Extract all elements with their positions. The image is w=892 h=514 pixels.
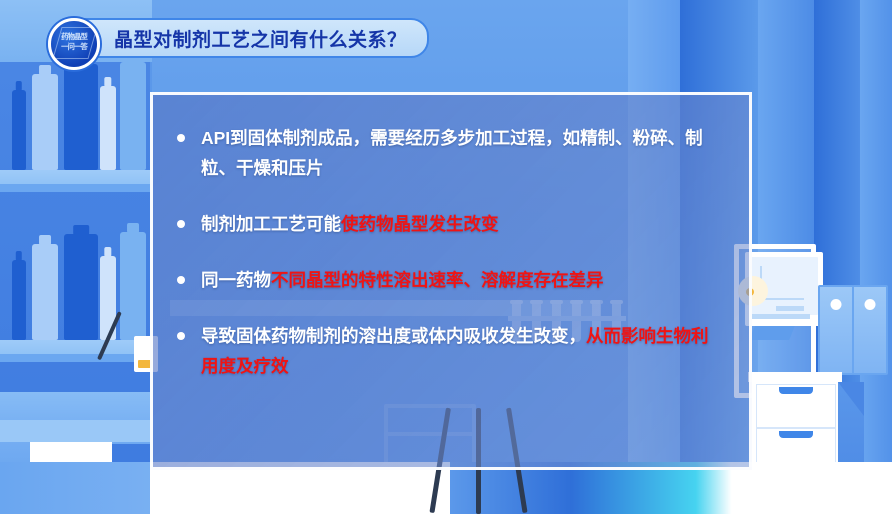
bullet-dot-icon [177,220,185,228]
left-bench-edge [0,420,150,442]
title-bar: 药物晶型 一问一答 晶型对制剂工艺之间有什么关系？ [48,18,429,58]
list-item: 同一药物不同晶型的特性溶出速率、溶解度存在差异 [175,265,719,295]
drawer [756,384,836,428]
badge-line-1: 药物晶型 [53,32,95,40]
wall-stripe [860,0,892,514]
bullet-list: API到固体制剂成品，需要经历多步加工过程，如精制、粉碎、制粒、干燥和压片制剂加… [175,123,719,381]
list-item: 导致固体药物制剂的溶出度或体内吸收发生改变，从而影响生物利用度及疗效 [175,321,719,381]
bullet-dot-icon [177,276,185,284]
body-text: 导致固体药物制剂的溶出度或体内吸收发生改变， [201,326,586,346]
page-title: 晶型对制剂工艺之间有什么关系？ [114,25,407,52]
bullet-dot-icon [177,332,185,340]
body-text: API到固体制剂成品，需要经历多步加工过程，如精制、粉碎、制粒、干燥和压片 [201,128,703,178]
brand-badge-icon: 药物晶型 一问一答 [48,18,100,70]
highlighted-text: 使药物晶型发生改变 [341,214,499,234]
badge-line-2: 一问一答 [53,42,95,50]
list-item: 制剂加工工艺可能使药物晶型发生改变 [175,209,719,239]
content-panel: API到固体制剂成品，需要经历多步加工过程，如精制、粉碎、制粒、干燥和压片制剂加… [150,92,752,470]
bullet-dot-icon [177,134,185,142]
binder [818,285,854,375]
monitor-stand [749,326,795,340]
binder [852,285,888,375]
page-title-pill: 晶型对制剂工艺之间有什么关系？ [68,18,429,58]
highlighted-text: 不同晶型的特性溶出速率、溶解度存在差异 [271,270,604,290]
list-item: API到固体制剂成品，需要经历多步加工过程，如精制、粉碎、制粒、干燥和压片 [175,123,719,183]
body-text: 制剂加工工艺可能 [201,214,341,234]
slide-stage: 药物晶型 一问一答 晶型对制剂工艺之间有什么关系？ API到固体制剂成品，需要经… [0,0,892,514]
body-text: 同一药物 [201,270,271,290]
